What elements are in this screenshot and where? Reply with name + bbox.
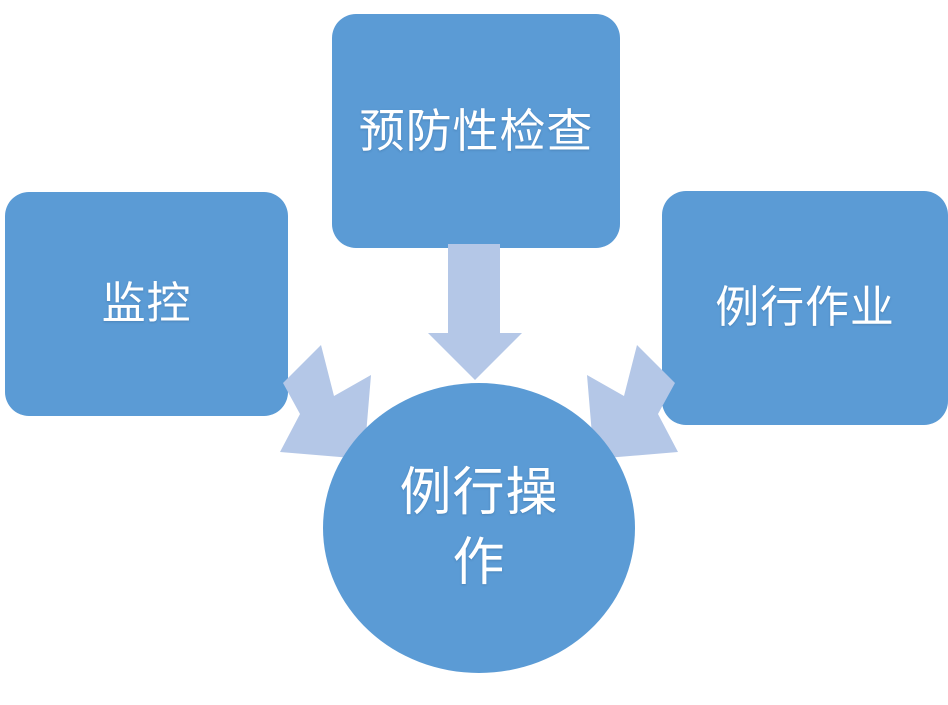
- node-preventive-inspection-label: 预防性检查: [359, 103, 594, 159]
- node-routine-operation[interactable]: 例行操作: [323, 383, 635, 673]
- node-routine-job[interactable]: 例行作业: [662, 191, 948, 425]
- node-monitoring-label: 监控: [102, 277, 192, 331]
- arrow-top-down-icon: [428, 244, 522, 380]
- node-monitoring[interactable]: 监控: [5, 192, 288, 416]
- node-routine-job-label: 例行作业: [715, 281, 895, 335]
- node-preventive-inspection[interactable]: 预防性检查: [332, 14, 620, 248]
- diagram-canvas: 预防性检查 监控 例行作业 例行操作: [0, 0, 948, 705]
- node-routine-operation-label: 例行操作: [384, 458, 574, 598]
